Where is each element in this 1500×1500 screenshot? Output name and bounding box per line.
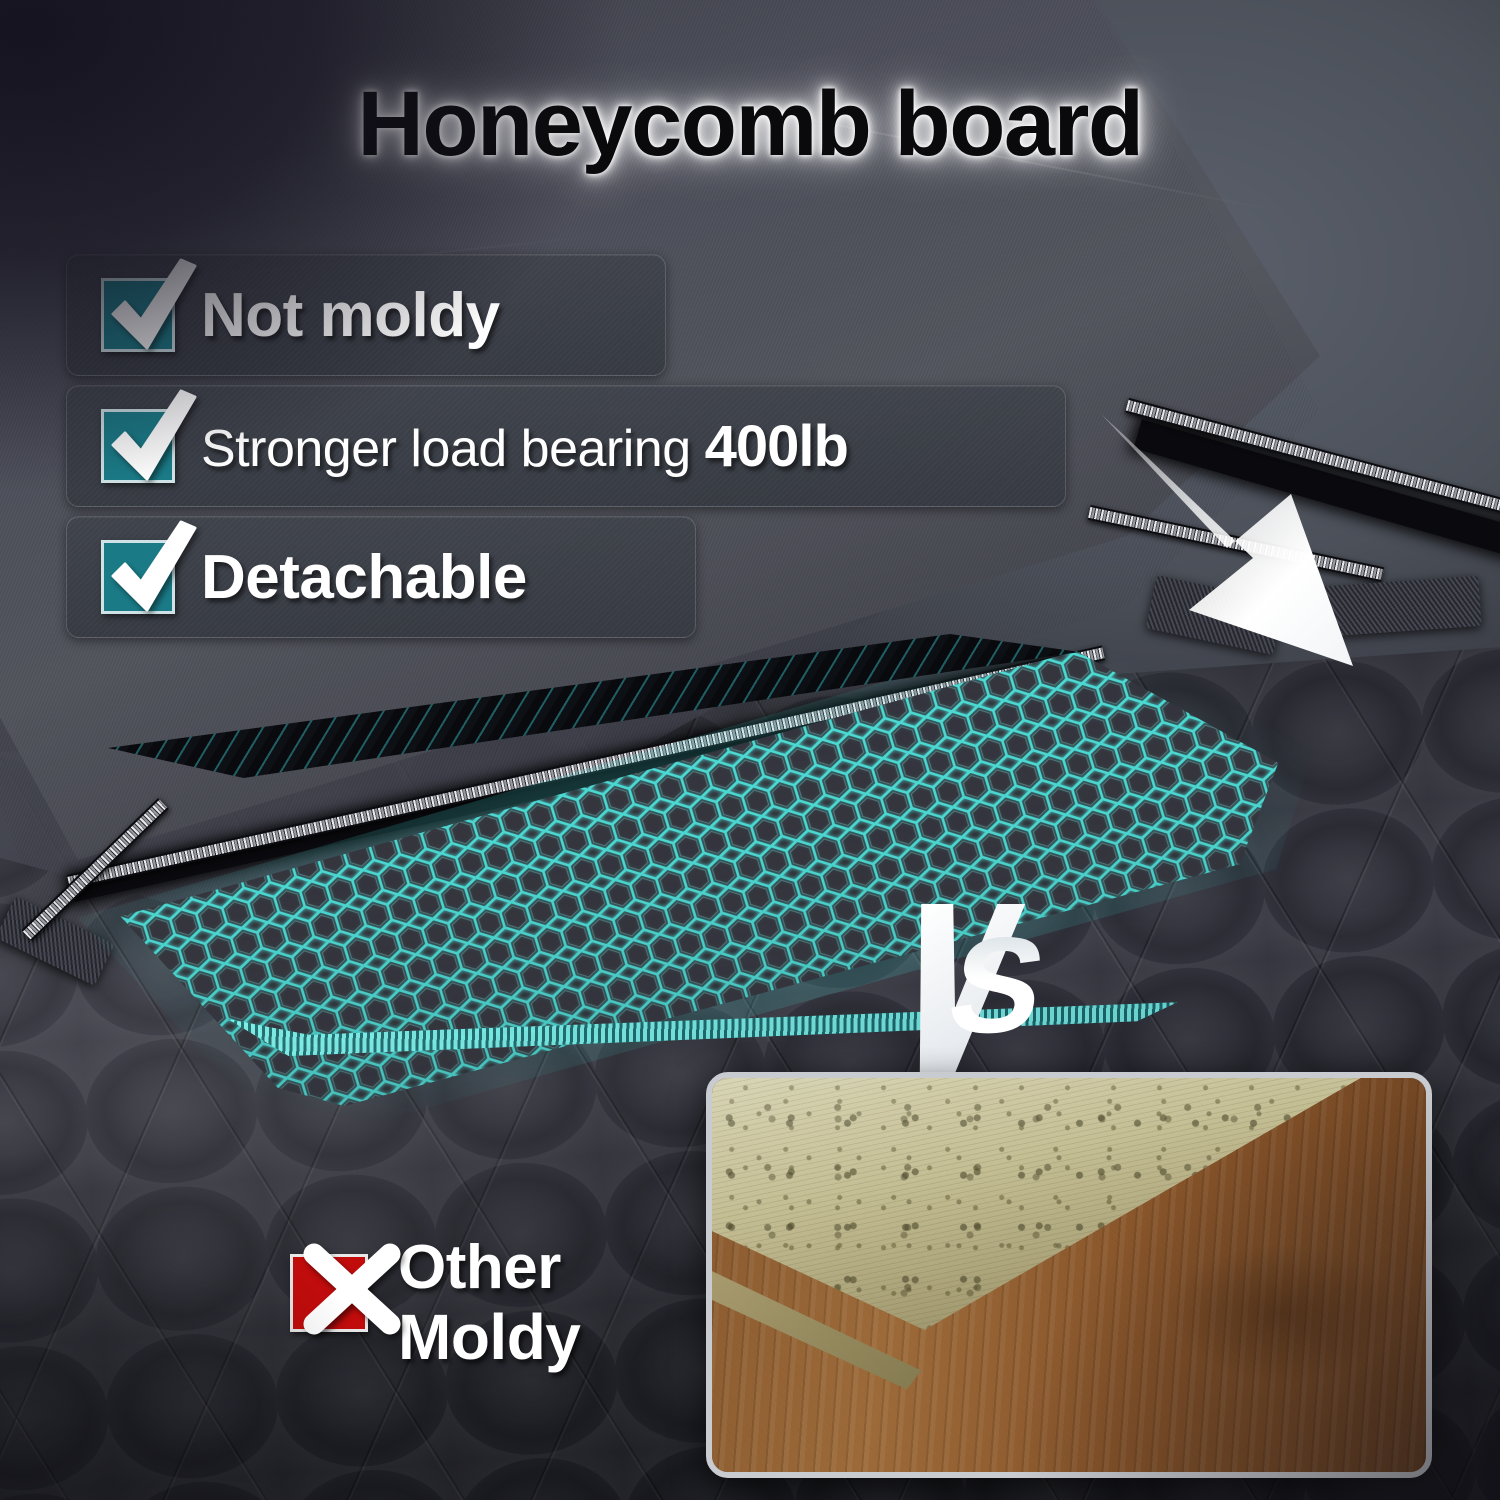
feature-label-emphasis: 400lb <box>705 414 848 479</box>
check-icon <box>101 278 175 352</box>
versus-badge: S <box>888 900 1078 1080</box>
feature-label-text: Stronger load bearing <box>201 420 705 478</box>
feature-list: Not moldy Stronger load bearing 400lb De… <box>66 254 1066 647</box>
feature-label: Detachable <box>201 542 527 613</box>
feature-row-detachable: Detachable <box>66 516 696 638</box>
product-infographic: S Honeycomb board Not moldy Stronger lo <box>0 0 1500 1500</box>
negative-text: Other Moldy <box>398 1236 580 1371</box>
negative-line-1: Other <box>398 1236 580 1299</box>
feature-row-not-moldy: Not moldy <box>66 254 666 376</box>
feature-label: Stronger load bearing 400lb <box>201 413 848 480</box>
page-title: Honeycomb board <box>0 72 1500 177</box>
cross-icon <box>290 1254 368 1332</box>
photo-grain <box>712 1078 1426 1472</box>
check-icon <box>101 540 175 614</box>
direction-arrow-icon <box>1095 398 1425 688</box>
moldy-pad-photo <box>706 1072 1432 1478</box>
negative-comparison-label: Other Moldy <box>290 1236 580 1371</box>
check-icon <box>101 409 175 483</box>
negative-line-2: Moldy <box>398 1305 580 1370</box>
feature-label: Not moldy <box>201 280 500 351</box>
svg-text:S: S <box>937 910 1057 1062</box>
honeycomb-board <box>78 612 1288 1132</box>
feature-row-load-bearing: Stronger load bearing 400lb <box>66 385 1066 507</box>
